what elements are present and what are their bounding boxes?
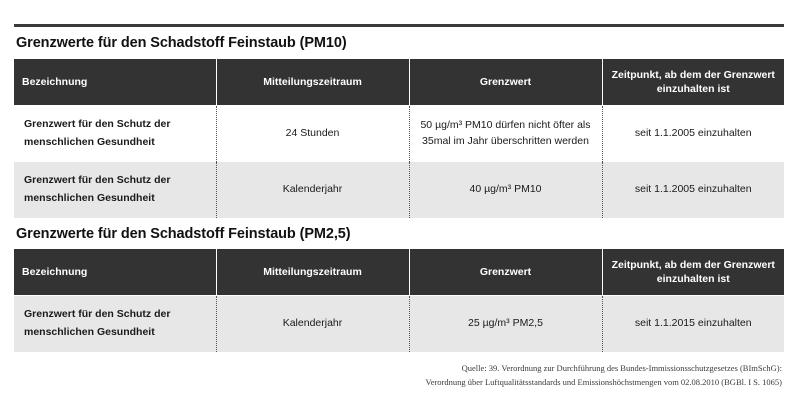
cell-zeitpunkt: seit 1.1.2005 einzuhalten [602, 106, 784, 162]
table-body-pm25: Grenzwert für den Schutz der menschliche… [14, 295, 784, 351]
table-row: Grenzwert für den Schutz der menschliche… [14, 295, 784, 351]
table-row: Grenzwert für den Schutz der menschliche… [14, 162, 784, 218]
cell-zeitpunkt: seit 1.1.2015 einzuhalten [602, 295, 784, 351]
document-page: Grenzwerte für den Schadstoff Feinstaub … [14, 0, 784, 400]
source-line-2: Verordnung über Luftqualitätsstandards u… [14, 375, 782, 389]
cell-grenzwert: 25 µg/m³ PM2,5 [409, 295, 602, 351]
cell-mitteilungszeitraum: Kalenderjahr [216, 162, 409, 218]
table-body-pm10: Grenzwert für den Schutz der menschliche… [14, 106, 784, 218]
column-header-mitteilungszeitraum: Mitteilungszeitraum [216, 249, 409, 296]
source-note: Quelle: 39. Verordnung zur Durchführung … [14, 361, 784, 389]
column-header-mitteilungszeitraum: Mitteilungszeitraum [216, 59, 409, 106]
limits-table-pm10: Bezeichnung Mitteilungszeitraum Grenzwer… [14, 59, 784, 218]
header-row: Bezeichnung Mitteilungszeitraum Grenzwer… [14, 249, 784, 296]
table-row: Grenzwert für den Schutz der menschliche… [14, 106, 784, 162]
cell-zeitpunkt: seit 1.1.2005 einzuhalten [602, 162, 784, 218]
cell-mitteilungszeitraum: Kalenderjahr [216, 295, 409, 351]
column-header-zeitpunkt: Zeitpunkt, ab dem der Grenzwert einzuhal… [602, 249, 784, 296]
table-header-pm25: Bezeichnung Mitteilungszeitraum Grenzwer… [14, 249, 784, 296]
cell-bezeichnung: Grenzwert für den Schutz der menschliche… [14, 162, 216, 218]
cell-bezeichnung: Grenzwert für den Schutz der menschliche… [14, 106, 216, 162]
table-title-pm10: Grenzwerte für den Schadstoff Feinstaub … [14, 27, 784, 59]
limits-table-pm25: Bezeichnung Mitteilungszeitraum Grenzwer… [14, 249, 784, 352]
column-header-zeitpunkt: Zeitpunkt, ab dem der Grenzwert einzuhal… [602, 59, 784, 106]
table-title-pm25: Grenzwerte für den Schadstoff Feinstaub … [14, 218, 784, 249]
column-header-grenzwert: Grenzwert [409, 249, 602, 296]
source-line-1: Quelle: 39. Verordnung zur Durchführung … [14, 361, 782, 375]
cell-bezeichnung: Grenzwert für den Schutz der menschliche… [14, 295, 216, 351]
column-header-bezeichnung: Bezeichnung [14, 59, 216, 106]
column-header-grenzwert: Grenzwert [409, 59, 602, 106]
column-header-bezeichnung: Bezeichnung [14, 249, 216, 296]
table-header-pm10: Bezeichnung Mitteilungszeitraum Grenzwer… [14, 59, 784, 106]
header-row: Bezeichnung Mitteilungszeitraum Grenzwer… [14, 59, 784, 106]
cell-grenzwert: 50 µg/m³ PM10 dürfen nicht öfter als 35m… [409, 106, 602, 162]
cell-mitteilungszeitraum: 24 Stunden [216, 106, 409, 162]
cell-grenzwert: 40 µg/m³ PM10 [409, 162, 602, 218]
